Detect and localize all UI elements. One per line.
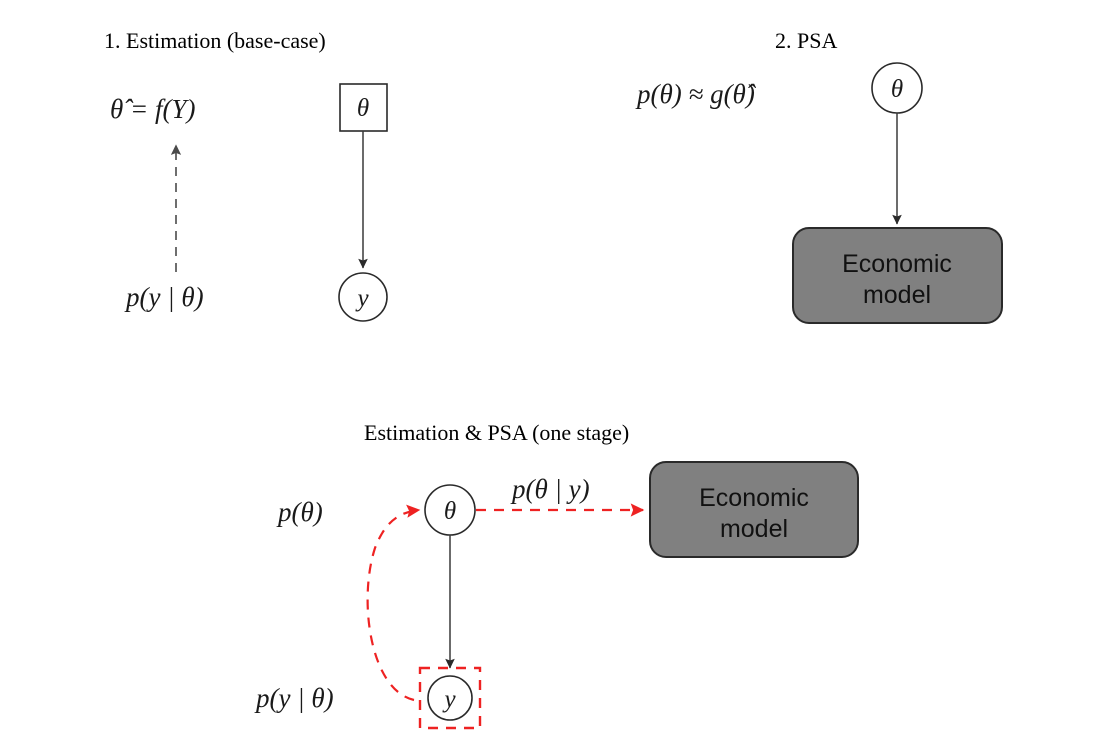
node-y-label-estimation: y [354,285,369,312]
edge-y-to-theta-one-stage [368,510,419,700]
node-theta-label-one-stage: θ [444,498,456,525]
economic-model-label-line1-psa: Economic [842,250,952,278]
panel-title-one-stage: Estimation & PSA (one stage) [364,420,629,445]
approximation-formula: p(θ) ≈ g(θ̂) [635,79,757,109]
node-theta-label-estimation: θ [357,95,369,122]
posterior-label: p(θ | y) [510,474,590,504]
likelihood-label-estimation: p(y | θ) [124,282,204,312]
node-theta-label-psa: θ [891,76,903,103]
likelihood-label-one-stage: p(y | θ) [254,683,334,713]
economic-model-label-line2-psa: model [863,281,931,309]
estimator-formula: θ̂ = f(Y) [110,94,195,124]
panel-title-estimation: 1. Estimation (base-case) [104,28,326,53]
panel-title-psa: 2. PSA [775,28,837,53]
economic-model-label-line1-one-stage: Economic [699,484,809,512]
economic-model-label-line2-one-stage: model [720,515,788,543]
node-y-label-one-stage: y [441,686,456,713]
figure-canvas: 1. Estimation (base-case) θ̂ = f(Y) p(y … [0,0,1100,745]
prior-label: p(θ) [276,497,323,527]
diagram-svg: 1. Estimation (base-case) θ̂ = f(Y) p(y … [0,0,1100,745]
